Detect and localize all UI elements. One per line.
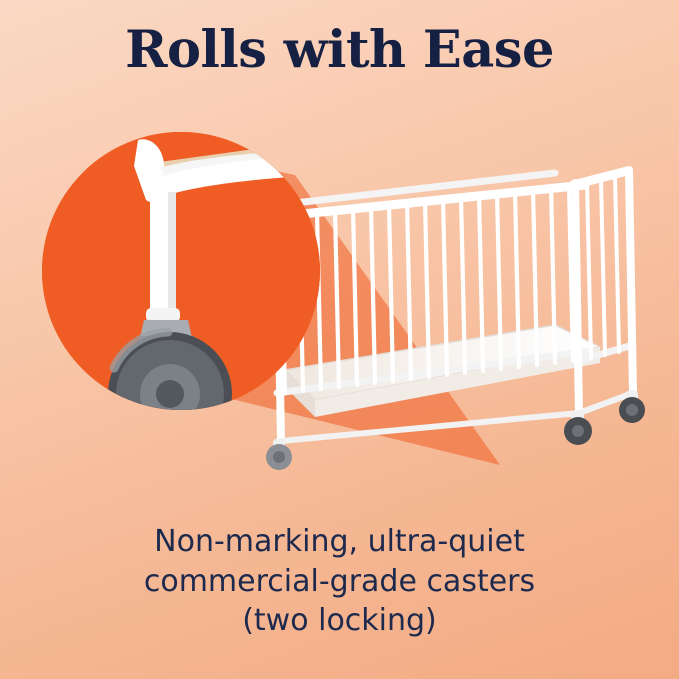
caster-front-left — [266, 439, 292, 470]
page-title: Rolls with Ease — [0, 22, 679, 78]
caption-line-2: commercial-grade casters — [0, 562, 679, 602]
caption-line-3: (two locking) — [0, 601, 679, 641]
product-feature-card: Rolls with Ease — [0, 0, 679, 679]
caption-line-1: Non-marking, ultra-quiet — [0, 522, 679, 562]
crib-illustration — [255, 155, 655, 500]
caster-closeup-magnifier — [42, 132, 320, 410]
product-photo — [0, 110, 679, 500]
feature-caption: Non-marking, ultra-quiet commercial-grad… — [0, 522, 679, 641]
caster-closeup-image — [42, 132, 320, 410]
